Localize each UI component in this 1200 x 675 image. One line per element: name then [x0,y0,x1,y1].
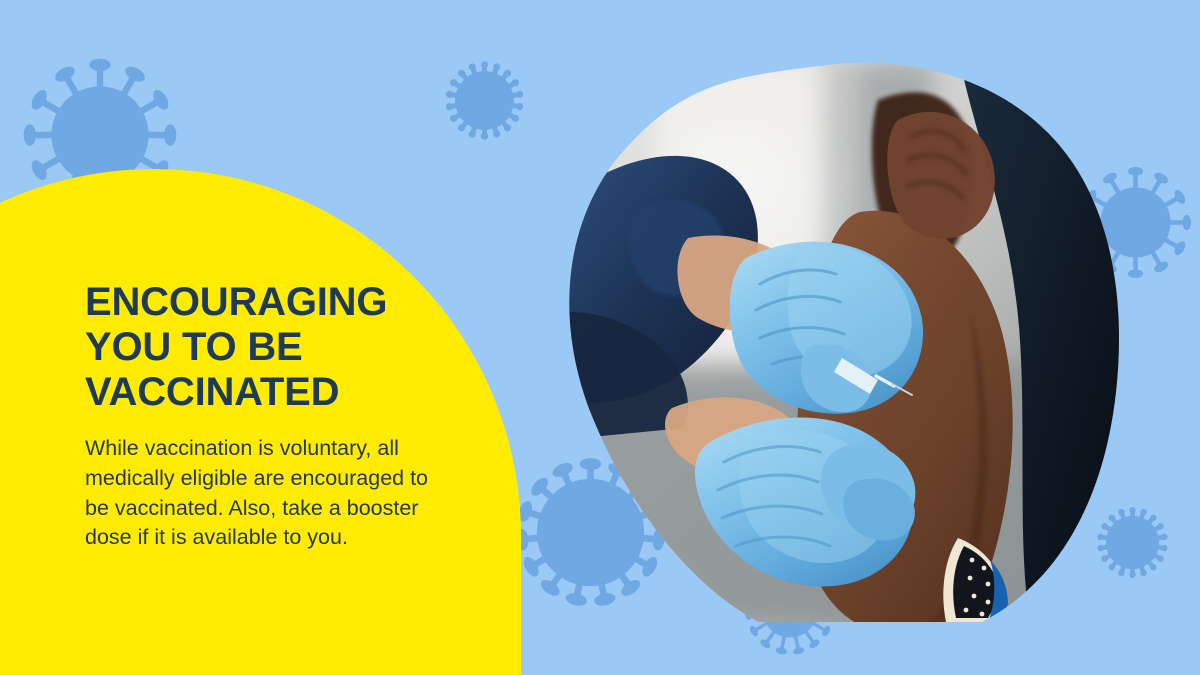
headline-line-1: ENCOURAGING [85,280,445,325]
message-block: ENCOURAGING YOU TO BE VACCINATED While v… [85,280,445,553]
headline-line-3: VACCINATED [85,370,445,415]
virus-icon-top-center [432,48,537,153]
vaccination-photo [560,62,1120,622]
headline-line-2: YOU TO BE [85,325,445,370]
vaccination-banner: ENCOURAGING YOU TO BE VACCINATED While v… [0,0,1200,675]
body-paragraph: While vaccination is voluntary, all medi… [85,434,430,553]
yellow-accent-base [0,536,521,675]
virus-icon-bottom-right [1085,495,1180,590]
vaccination-photo-image [560,62,1120,622]
headline: ENCOURAGING YOU TO BE VACCINATED [85,280,445,414]
